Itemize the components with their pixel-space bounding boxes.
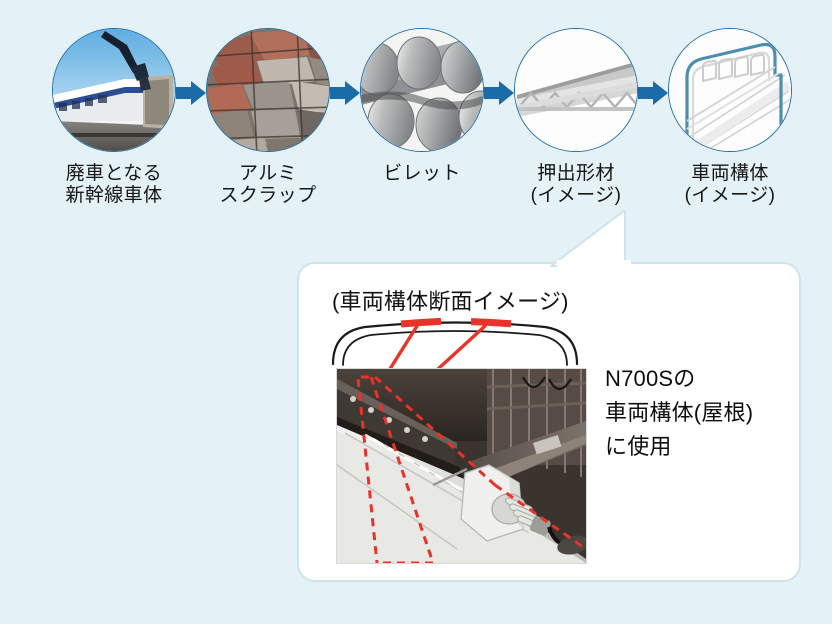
- flow-step-aluminium-scrap: アルミ スクラップ: [198, 28, 338, 208]
- car-body-structure-art: [669, 29, 792, 152]
- flow-step-car-body-structure: 車両構体 (イメージ): [660, 28, 800, 208]
- callout-content: (車両構体断面イメージ): [297, 262, 801, 582]
- flow-step-label: 押出形材 (イメージ): [506, 163, 646, 208]
- aluminium-scrap-photo-icon: [206, 28, 330, 152]
- flow-step-extruded-shape: 押出形材 (イメージ): [506, 28, 646, 208]
- cross-section-title: (車両構体断面イメージ): [332, 284, 569, 316]
- flow-step-label: 廃車となる 新幹線車体: [44, 163, 184, 208]
- extruded-profile-illustration-icon: [514, 28, 638, 152]
- car-body-cross-section-diagram-icon: [325, 318, 585, 366]
- usage-callout: (車両構体断面イメージ): [297, 262, 801, 582]
- flow-step-label: アルミ スクラップ: [198, 163, 338, 208]
- aluminium-billet-photo-icon: [360, 28, 484, 152]
- scrapped-shinkansen-art: [53, 29, 176, 152]
- aluminium-scrap-art: [207, 29, 330, 152]
- aluminium-billet-art: [361, 29, 484, 152]
- car-body-structure-illustration-icon: [668, 28, 792, 152]
- extruded-profile-art: [515, 29, 638, 152]
- flow-step-label: 車両構体 (イメージ): [660, 163, 800, 208]
- scrapped-shinkansen-photo-icon: [52, 28, 176, 152]
- flow-step-scrapped-shinkansen: 廃車となる 新幹線車体: [44, 28, 184, 208]
- recycling-flow: 廃車となる 新幹線車体: [0, 0, 832, 250]
- infographic-canvas: 廃車となる 新幹線車体: [0, 0, 832, 624]
- flow-step-label: ビレット: [352, 163, 492, 185]
- usage-description: N700Sの 車両構体(屋根) に使用: [605, 362, 753, 464]
- callout-tail-icon: [547, 210, 637, 266]
- shinkansen-roof-art: [337, 369, 586, 563]
- shinkansen-roof-photo-icon: [336, 368, 587, 564]
- flow-step-billet: ビレット: [352, 28, 492, 185]
